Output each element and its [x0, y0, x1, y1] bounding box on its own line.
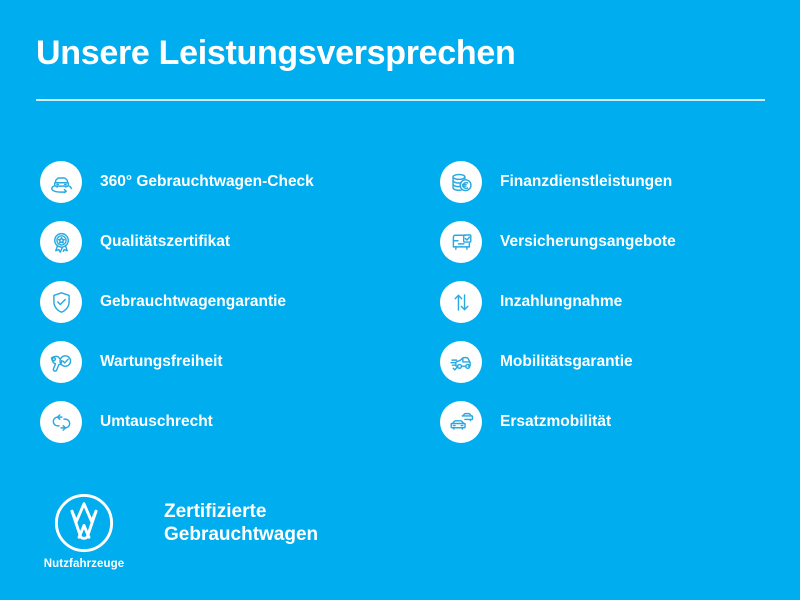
quality-award-rosette-icon — [40, 221, 82, 263]
benefit-item: Versicherungsangebote — [440, 212, 790, 272]
slide-root: Unsere Leistungsversprechen 3 — [0, 0, 800, 600]
benefit-label: Wartungsfreiheit — [100, 353, 223, 372]
brand-logo-block: Nutzfahrzeuge — [36, 492, 132, 570]
footer: Nutzfahrzeuge Zertifizierte Gebrauchtwag… — [36, 492, 318, 570]
header-divider — [36, 99, 765, 101]
header: Unsere Leistungsversprechen — [36, 34, 766, 73]
benefit-label: Mobilitätsgarantie — [500, 353, 633, 372]
benefit-item: Inzahlungnahme — [440, 272, 790, 332]
benefit-label: Inzahlungnahme — [500, 293, 622, 312]
benefit-label: Finanzdienstleistungen — [500, 173, 672, 192]
benefit-item: Finanzdienstleistungen — [440, 152, 790, 212]
benefit-label: Qualitätszertifikat — [100, 233, 230, 252]
benefit-item: Mobilitätsgarantie — [440, 332, 790, 392]
benefit-item: Wartungsfreiheit — [40, 332, 440, 392]
wrench-check-icon — [40, 341, 82, 383]
van-speed-check-icon — [440, 341, 482, 383]
coins-euro-icon — [440, 161, 482, 203]
logo-subtitle: Nutzfahrzeuge — [44, 558, 125, 570]
benefit-label: 360° Gebrauchtwagen-Check — [100, 173, 314, 192]
benefit-label: Umtauschrecht — [100, 413, 213, 432]
benefit-label: Gebrauchtwagengarantie — [100, 293, 286, 312]
footer-headline-line1: Zertifizierte — [164, 500, 318, 523]
footer-headline-line2: Gebrauchtwagen — [164, 523, 318, 546]
page-title: Unsere Leistungsversprechen — [36, 34, 766, 73]
benefits-left-column: 360° Gebrauchtwagen-Check Qualitätszerti… — [40, 152, 440, 452]
up-down-arrows-icon — [440, 281, 482, 323]
car-360-check-icon — [40, 161, 82, 203]
footer-headline: Zertifizierte Gebrauchtwagen — [164, 500, 318, 546]
volkswagen-logo — [53, 492, 115, 554]
benefit-item: Qualitätszertifikat — [40, 212, 440, 272]
benefits-right-column: Finanzdienstleistungen Versicheru — [440, 152, 790, 452]
benefit-label: Ersatzmobilität — [500, 413, 611, 432]
two-cars-icon — [440, 401, 482, 443]
benefit-item: Gebrauchtwagengarantie — [40, 272, 440, 332]
shield-check-icon — [40, 281, 82, 323]
benefit-item: Ersatzmobilität — [440, 392, 790, 452]
van-check-icon — [440, 221, 482, 263]
exchange-arrows-icon — [40, 401, 82, 443]
benefit-item: Umtauschrecht — [40, 392, 440, 452]
benefit-item: 360° Gebrauchtwagen-Check — [40, 152, 440, 212]
benefit-label: Versicherungsangebote — [500, 233, 676, 252]
